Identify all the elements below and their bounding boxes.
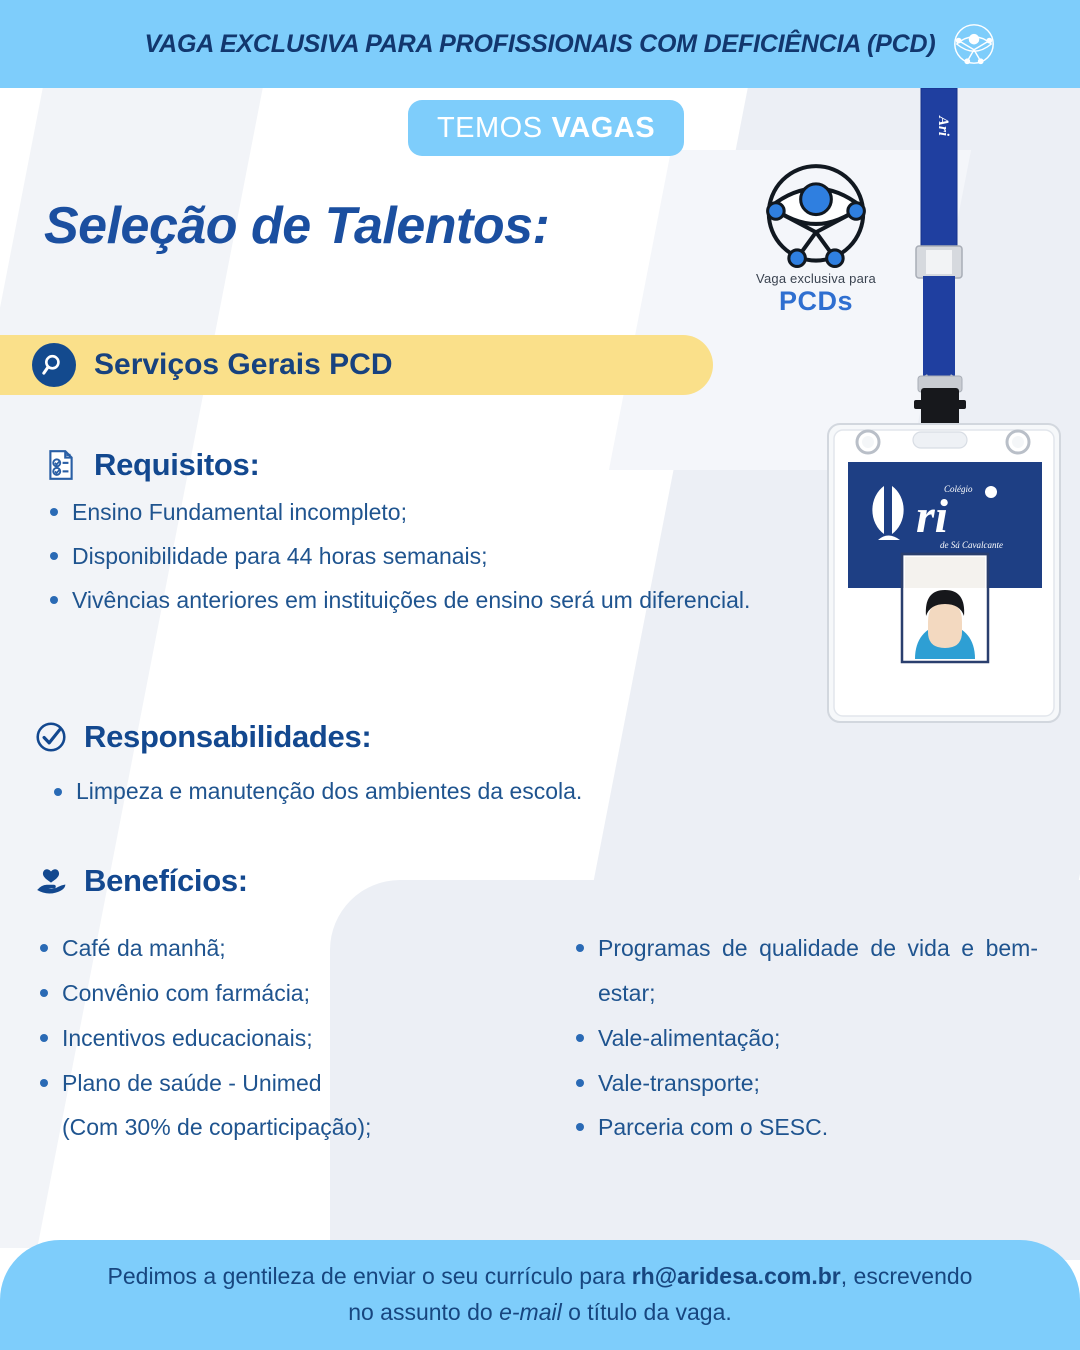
svg-text:Colégio: Colégio [944,484,973,494]
lanyard-strap [921,88,957,248]
page-title: Seleção de Talentos: [44,196,549,256]
svg-text:Ari: Ari [935,115,951,137]
section-responsabilidades: Responsabilidades: Limpeza e manutenção … [32,718,752,814]
section-title: Requisitos: [94,447,260,483]
contact-email[interactable]: rh@aridesa.com.br [632,1263,841,1289]
svg-text:de Sá Cavalcante: de Sá Cavalcante [940,540,1003,550]
pcd-accessibility-icon [950,20,998,68]
footer-line2-italic: e-mail [499,1299,562,1325]
footer-line2-after: o título da vaga. [562,1299,732,1325]
list-item: Incentivos educacionais; [32,1016,502,1061]
list-item: Limpeza e manutenção dos ambientes da es… [46,770,752,814]
list-item-note: (Com 30% de coparticipação); [32,1105,502,1150]
requisitos-list: Ensino Fundamental incompleto; Disponibi… [42,490,832,622]
beneficios-column-right: Programas de qualidade de vida e bem-est… [568,926,1038,1150]
list-item: Plano de saúde - Unimed [32,1061,502,1106]
search-icon [32,343,76,387]
footer-text-before: Pedimos a gentileza de enviar o seu curr… [108,1263,632,1289]
list-item: Programas de qualidade de vida e bem-est… [568,926,1038,1016]
pill-bold-word: VAGAS [552,112,655,145]
section-requisitos: Requisitos: Ensino Fundamental incomplet… [42,446,832,622]
list-item: Café da manhã; [32,926,502,971]
heart-in-hand-icon [32,862,70,900]
list-item: Vale-transporte; [568,1061,1038,1106]
beneficios-column-left: Café da manhã; Convênio com farmácia; In… [32,926,502,1150]
list-item: Vale-alimentação; [568,1016,1038,1061]
top-banner-title: VAGA EXCLUSIVA PARA PROFISSIONAIS COM DE… [145,30,936,59]
top-banner: VAGA EXCLUSIVA PARA PROFISSIONAIS COM DE… [0,0,1080,88]
check-circle-icon [32,718,70,756]
footer-text-after: , escrevendo [841,1263,973,1289]
id-badge-illustration: Ari r [820,88,1070,728]
footer-line-1: Pedimos a gentileza de enviar o seu curr… [108,1259,973,1295]
footer-line-2: no assunto do e-mail o título da vaga. [348,1295,732,1331]
role-banner: Serviços Gerais PCD [0,335,713,395]
list-item: Disponibilidade para 44 horas semanais; [42,534,832,578]
job-posting-poster: VAGA EXCLUSIVA PARA PROFISSIONAIS COM DE… [0,0,1080,1350]
section-title: Benefícios: [84,863,248,899]
section-beneficios: Benefícios: Café da manhã; Convênio com … [32,862,1052,1150]
svg-text:ri: ri [916,490,949,543]
list-item: Convênio com farmácia; [32,971,502,1016]
footer-contact-bar: Pedimos a gentileza de enviar o seu curr… [0,1240,1080,1350]
section-title: Responsabilidades: [84,719,371,755]
checklist-document-icon [42,446,80,484]
temos-vagas-badge: TEMOS VAGAS [408,100,684,156]
role-title: Serviços Gerais PCD [94,348,393,382]
list-item: Ensino Fundamental incompleto; [42,490,832,534]
list-item: Vivências anteriores em instituições de … [42,578,832,622]
list-item: Parceria com o SESC. [568,1105,1038,1150]
pill-light-word: TEMOS [437,112,543,145]
responsabilidades-list: Limpeza e manutenção dos ambientes da es… [32,770,752,814]
footer-line2-before: no assunto do [348,1299,499,1325]
